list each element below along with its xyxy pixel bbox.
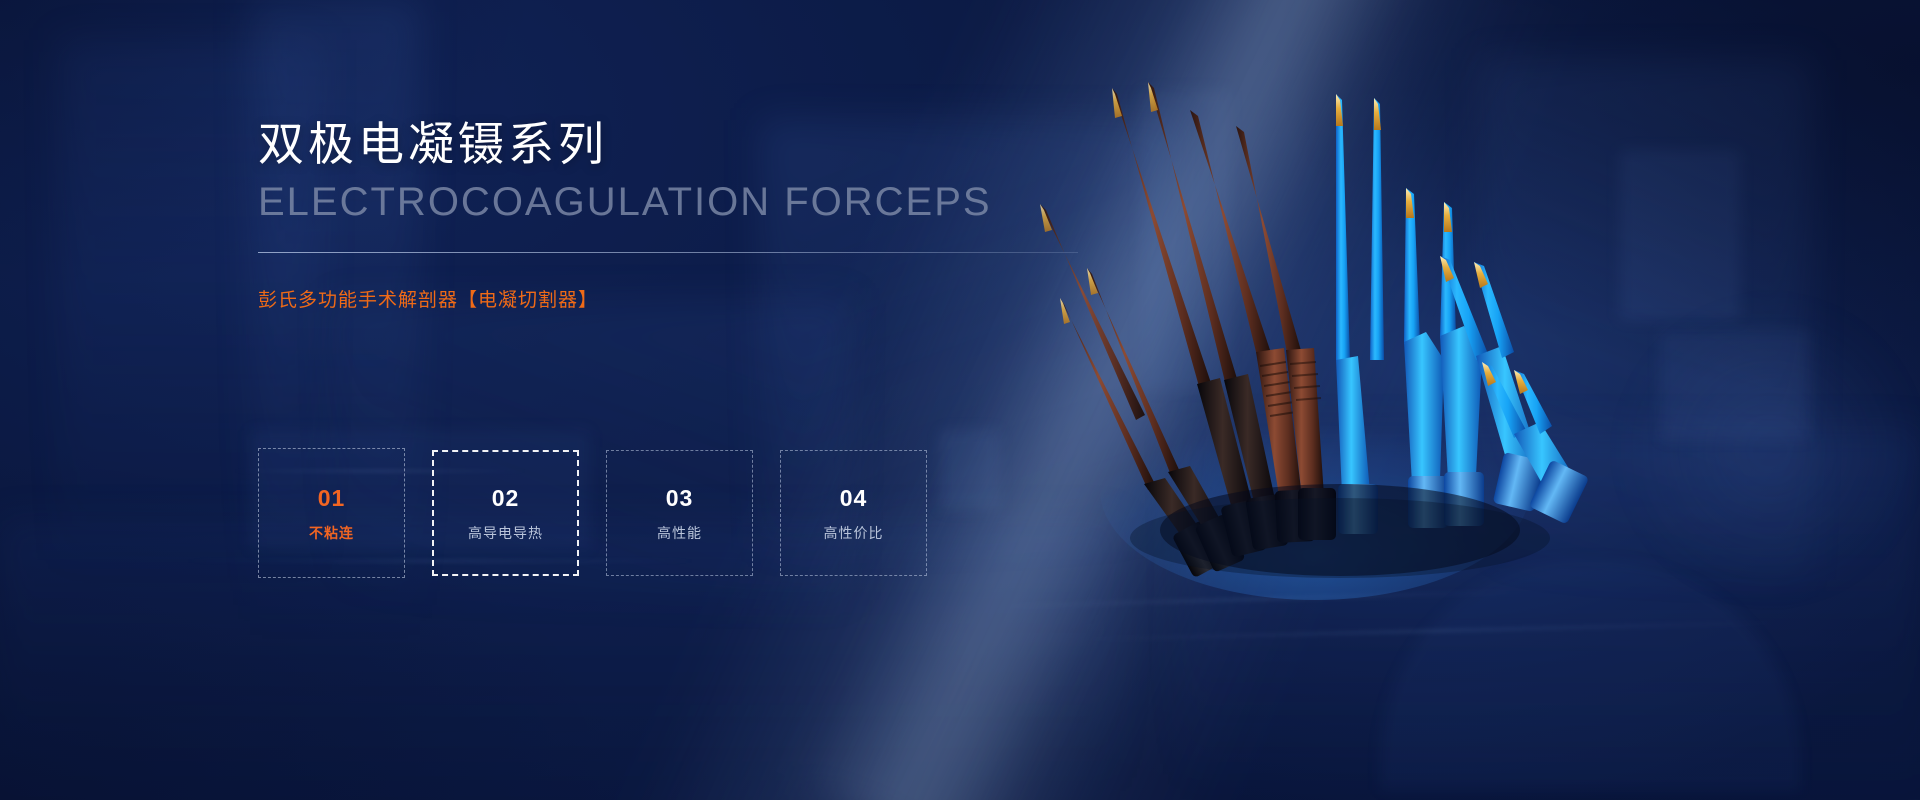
feature-box-01[interactable]: 01 不粘连 — [258, 448, 405, 578]
title-divider — [258, 252, 1078, 253]
feature-number: 01 — [318, 487, 346, 510]
feature-number: 02 — [492, 487, 520, 510]
forceps-product-image — [1040, 60, 1600, 580]
page-title: 双极电凝镊系列 — [258, 120, 1118, 170]
forceps-blue-2 — [1370, 98, 1384, 360]
feature-label: 高性能 — [657, 526, 702, 540]
product-tagline: 彭氏多功能手术解剖器【电凝切割器】 — [258, 285, 1118, 312]
feature-number: 04 — [840, 487, 868, 510]
feature-label: 高性价比 — [824, 526, 884, 540]
feature-box-03[interactable]: 03 高性能 — [606, 450, 753, 576]
page-subtitle-english: ELECTROCOAGULATION FORCEPS — [258, 180, 1118, 224]
forceps-blue-4 — [1440, 202, 1484, 526]
feature-box-list: 01 不粘连 02 高导电导热 03 高性能 04 高性价比 — [258, 450, 927, 578]
feature-label: 不粘连 — [309, 526, 354, 540]
feature-label: 高导电导热 — [468, 526, 543, 540]
banner-text-block: 双极电凝镊系列 ELECTROCOAGULATION FORCEPS 彭氏多功能… — [258, 120, 1118, 312]
feature-number: 03 — [666, 487, 694, 510]
feature-box-02[interactable]: 02 高导电导热 — [432, 450, 579, 576]
feature-box-04[interactable]: 04 高性价比 — [780, 450, 927, 576]
product-banner: 双极电凝镊系列 ELECTROCOAGULATION FORCEPS 彭氏多功能… — [0, 0, 1920, 800]
